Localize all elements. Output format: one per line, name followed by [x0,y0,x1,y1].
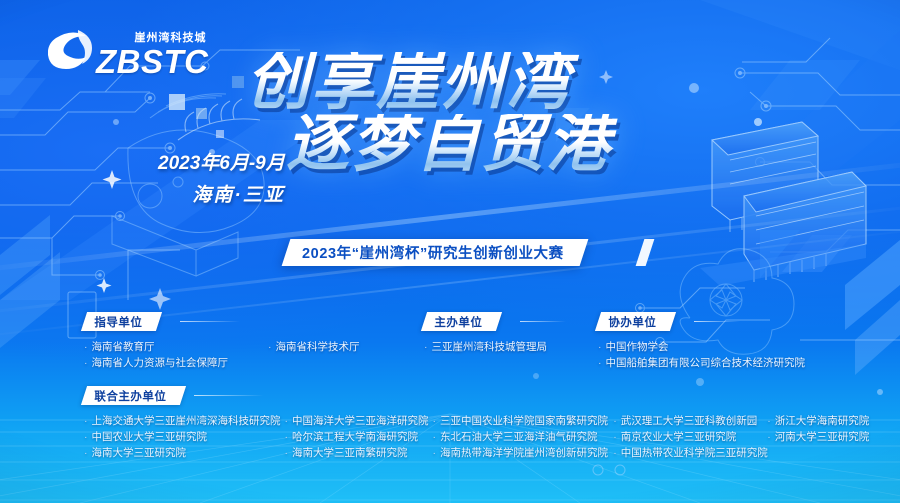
vignette-overlay [0,0,900,503]
poster-canvas: 崖州湾科技城 ZBSTC 创享崖州湾 逐梦自贸港 2023年6月-9月 海南·三… [0,0,900,503]
